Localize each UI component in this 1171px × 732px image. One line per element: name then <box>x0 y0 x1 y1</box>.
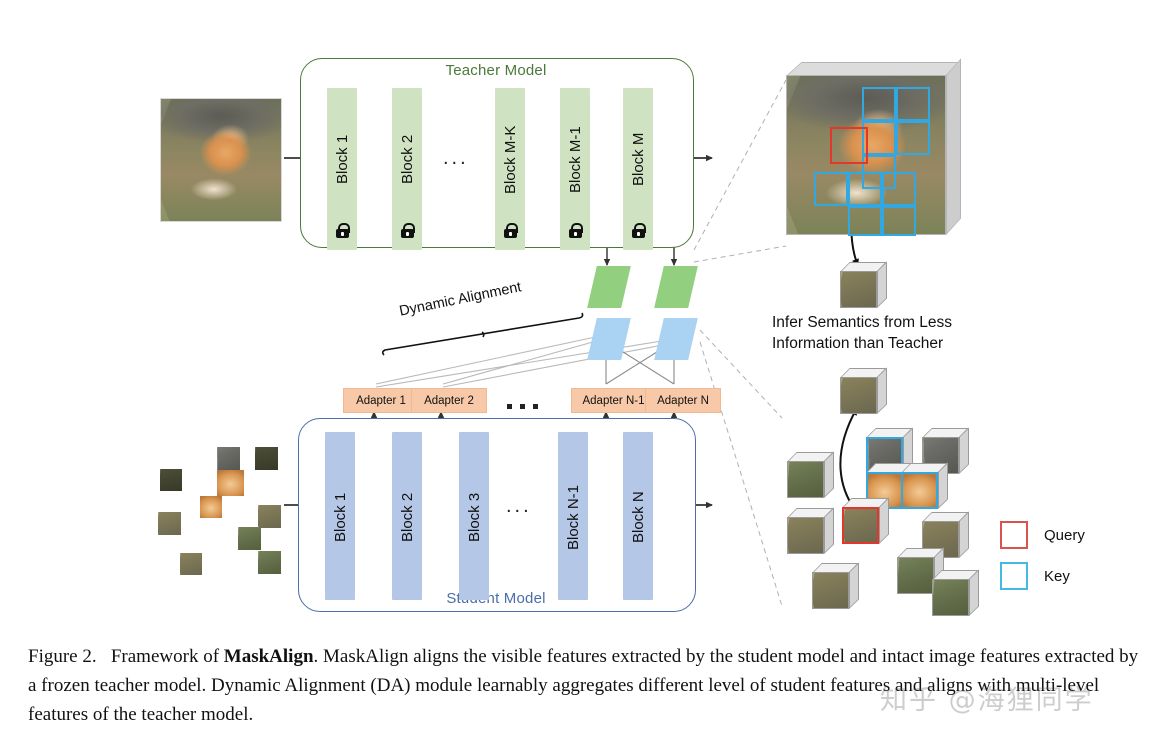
adapter-n[interactable]: Adapter N <box>645 388 721 413</box>
callout-teacher <box>694 80 786 262</box>
patch-cube <box>932 570 978 616</box>
patch-cube <box>787 508 833 554</box>
teacher-feature-2 <box>654 266 698 308</box>
key-box <box>896 121 930 155</box>
masked-patch <box>258 505 281 528</box>
infer-semantics-text: Infer Semantics from Less Information th… <box>772 312 972 354</box>
student-extracted-cube <box>840 368 886 414</box>
student-block-1: Block 1 <box>325 432 355 600</box>
masked-patch <box>258 551 281 574</box>
lock-icon <box>401 223 414 238</box>
student-block-3: Block 3 <box>459 432 489 600</box>
teacher-block-m-label: Block M <box>630 96 647 223</box>
teacher-block-m-k: Block M-K <box>495 88 525 250</box>
slab-top <box>786 62 962 76</box>
key-swatch <box>1000 562 1028 590</box>
key-box <box>814 172 848 206</box>
masked-patch <box>217 447 240 470</box>
masked-patch <box>180 553 202 575</box>
patch-cube <box>812 563 858 609</box>
teacher-block-1-label: Block 1 <box>334 96 351 223</box>
patch-cube <box>787 452 833 498</box>
query-box <box>830 127 868 164</box>
key-patch-cube <box>901 463 947 509</box>
adapter-ellipsis <box>503 396 542 414</box>
student-block-n-1: Block N-1 <box>558 432 588 600</box>
key-box <box>896 87 930 121</box>
lock-icon <box>336 223 349 238</box>
student-block-1-label: Block 1 <box>332 440 349 594</box>
teacher-block-2-label: Block 2 <box>399 96 416 223</box>
cube-side <box>877 261 887 308</box>
query-swatch <box>1000 521 1028 549</box>
teacher-block-m-k-label: Block M-K <box>502 96 519 223</box>
query-patch-cube <box>842 498 888 544</box>
infer-semantics-line-2: Information than Teacher <box>772 333 972 354</box>
student-block-3-label: Block 3 <box>466 440 483 594</box>
student-block-n: Block N <box>623 432 653 600</box>
student-block-n-1-label: Block N-1 <box>565 440 582 594</box>
key-box <box>848 206 882 236</box>
teacher-ellipsis: ... <box>443 148 469 168</box>
legend-item-query: Query <box>1000 521 1085 549</box>
masked-patch <box>238 527 261 550</box>
student-feature-1 <box>587 318 631 360</box>
student-feature-2 <box>654 318 698 360</box>
teacher-input-image <box>160 98 282 222</box>
teacher-block-m-1: Block M-1 <box>560 88 590 250</box>
student-block-n-label: Block N <box>630 440 647 594</box>
caption-prefix: Figure 2. <box>28 646 97 667</box>
cube-face <box>840 271 877 308</box>
key-box <box>882 172 916 206</box>
callout-student <box>700 330 782 606</box>
key-box <box>862 87 896 121</box>
slab-side <box>946 58 961 235</box>
teacher-feature-1 <box>587 266 631 308</box>
watermark: 知乎 @海狸同学 <box>880 678 1094 717</box>
key-box <box>882 206 916 236</box>
teacher-block-m: Block M <box>623 88 653 250</box>
teacher-model-title: Teacher Model <box>300 62 692 79</box>
legend-query-label: Query <box>1044 527 1085 544</box>
figure-root: Teacher Model Block 1 Block 2 ... Block … <box>0 0 1171 732</box>
masked-patch <box>158 512 181 535</box>
teacher-block-m-1-label: Block M-1 <box>567 96 584 223</box>
lock-icon <box>504 223 517 238</box>
lock-icon <box>569 223 582 238</box>
dynamic-alignment-label: Dynamic Alignment <box>398 279 523 319</box>
student-block-2-label: Block 2 <box>399 440 416 594</box>
adapter-2[interactable]: Adapter 2 <box>411 388 487 413</box>
adapter-1[interactable]: Adapter 1 <box>343 388 419 413</box>
teacher-block-1: Block 1 <box>327 88 357 250</box>
adapter-2-label: Adapter 2 <box>424 395 474 407</box>
caption-bold-title: MaskAlign <box>224 646 314 667</box>
infer-semantics-line-1: Infer Semantics from Less <box>772 312 972 333</box>
student-block-2: Block 2 <box>392 432 422 600</box>
caption-lead: Framework of <box>111 646 224 667</box>
teacher-block-2: Block 2 <box>392 88 422 250</box>
adapter-n-1-label: Adapter N-1 <box>582 395 644 407</box>
legend-item-key: Key <box>1000 562 1070 590</box>
cube-side <box>877 367 887 414</box>
legend-key-label: Key <box>1044 568 1070 585</box>
key-box <box>848 172 882 206</box>
masked-patch <box>200 496 222 518</box>
cube-face <box>840 377 877 414</box>
lock-icon <box>632 223 645 238</box>
adapter-n-label: Adapter N <box>657 395 709 407</box>
adapter-n-1[interactable]: Adapter N-1 <box>571 388 656 413</box>
adapter-1-label: Adapter 1 <box>356 395 406 407</box>
masked-patch <box>255 447 278 470</box>
teacher-intact-image-slab <box>786 62 964 252</box>
masked-patch <box>217 470 244 496</box>
student-ellipsis: ... <box>506 496 532 516</box>
extracted-patch-cube <box>840 262 886 308</box>
dynamic-alignment-brace <box>383 313 583 355</box>
masked-patch <box>160 469 182 491</box>
